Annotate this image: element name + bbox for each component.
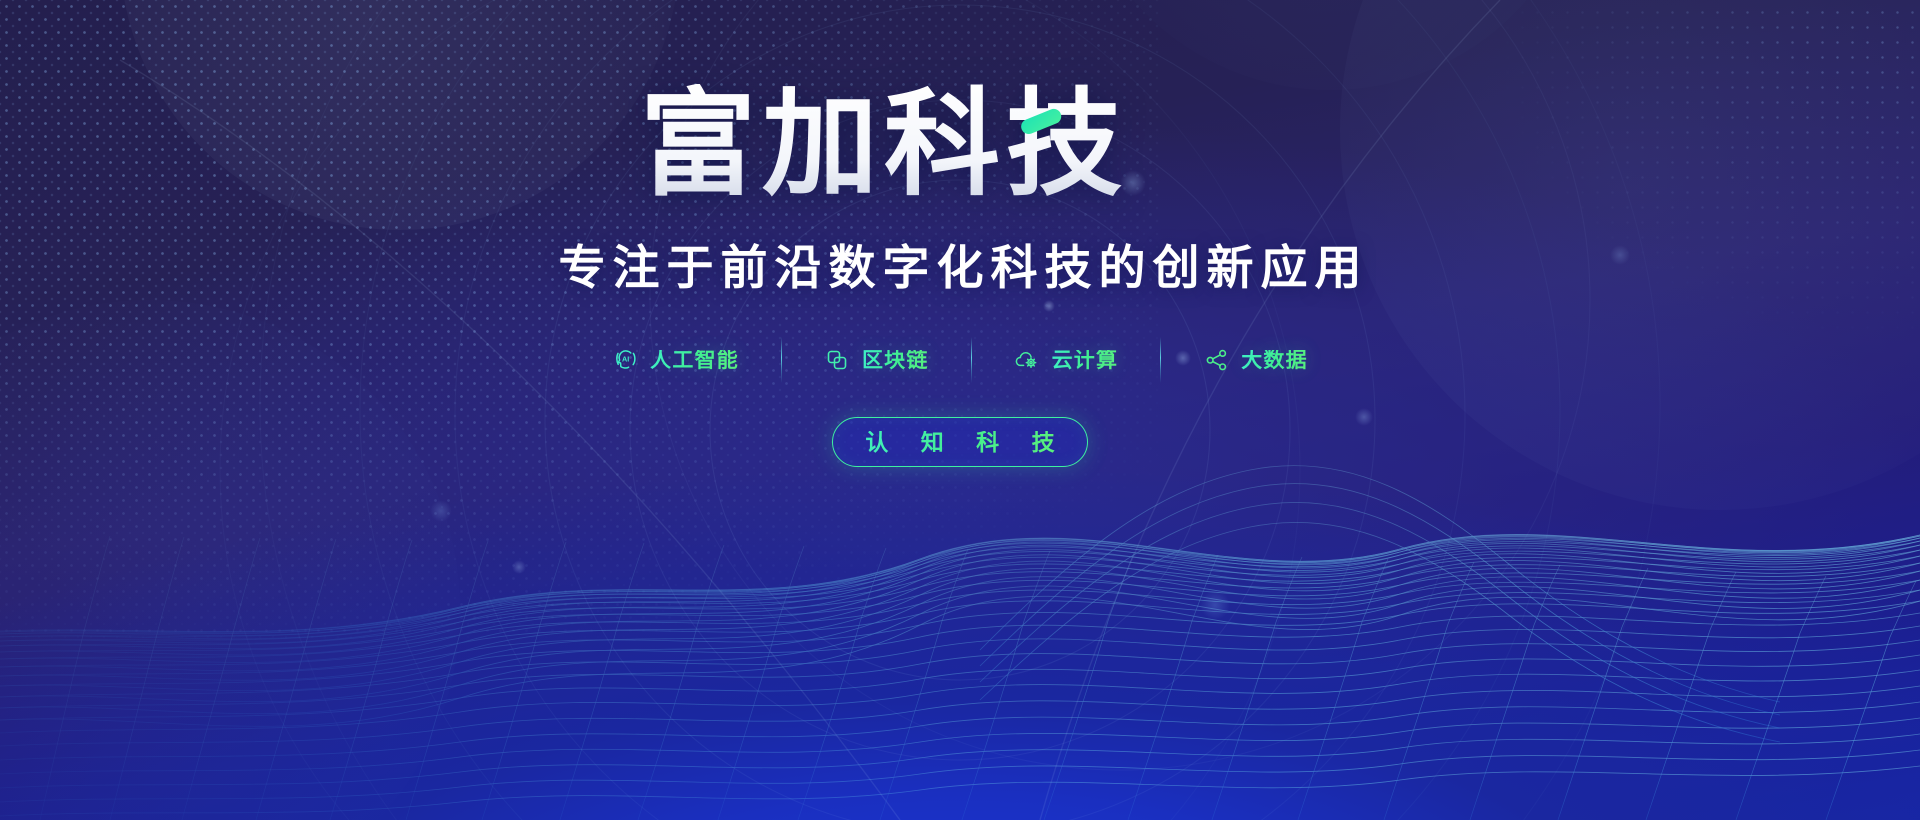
feature-tag-cloud[interactable]: 云计算 xyxy=(972,347,1161,374)
ai-head-icon: AI xyxy=(612,347,639,374)
feature-tag-list: AI 人工智能 区块链 xyxy=(570,338,1350,382)
feature-tag-label: 大数据 xyxy=(1241,350,1308,371)
feature-tag-ai[interactable]: AI 人工智能 xyxy=(570,347,781,374)
feature-tag-blockchain[interactable]: 区块链 xyxy=(782,347,971,374)
hero-subtitle: 专注于前沿数字化科技的创新应用 xyxy=(552,244,1369,291)
glow-speck xyxy=(430,500,452,522)
cta-button-label: 认 知 科 技 xyxy=(852,431,1067,454)
share-nodes-icon xyxy=(1203,347,1230,374)
svg-text:富加科技: 富加科技 xyxy=(640,84,1128,209)
feature-tag-bigdata[interactable]: 大数据 xyxy=(1161,347,1350,374)
brand-logo: 富加科技 xyxy=(640,84,1280,214)
blockchain-icon xyxy=(824,347,851,374)
glow-speck xyxy=(512,560,526,574)
cta-button[interactable]: 认 知 科 技 xyxy=(832,417,1088,467)
cloud-gear-icon xyxy=(1014,347,1041,374)
brand-logo-glyphs: 富加科技 xyxy=(640,84,1280,214)
hero-content: 富加科技 专注于前沿数字化科技的创新应用 AI 人工智能 xyxy=(0,0,1920,467)
feature-tag-label: 云计算 xyxy=(1052,350,1119,371)
feature-tag-label: 区块链 xyxy=(862,350,929,371)
hero-banner: 富加科技 专注于前沿数字化科技的创新应用 AI 人工智能 xyxy=(0,0,1920,820)
glow-speck xyxy=(1200,590,1230,620)
feature-tag-label: 人工智能 xyxy=(650,350,739,371)
svg-text:AI: AI xyxy=(622,355,629,364)
